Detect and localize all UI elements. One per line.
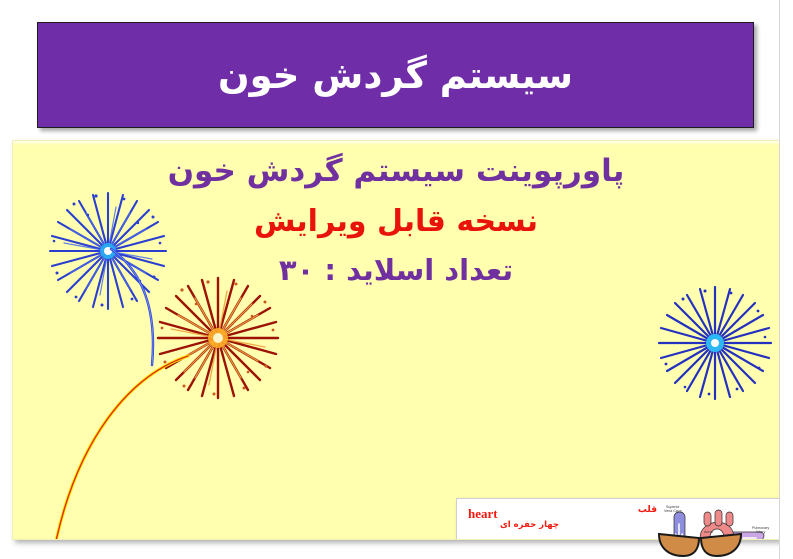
brown-shoes-icon (655, 528, 745, 559)
firework-trail-yellow-icon (38, 351, 198, 540)
label-superior-vena-cava: Superior Vena Cava (664, 505, 682, 514)
right-gutter (779, 0, 793, 559)
title-banner: سیستم گردش خون (37, 22, 754, 128)
firework-burst-red-icon (153, 273, 283, 403)
content-panel: پاورپوینت سیستم گردش خون نسخه قابل ویرای… (12, 140, 780, 540)
headline-line-2: نسخه قابل ویرایش (13, 206, 779, 238)
slide-heading-en: heart (468, 506, 498, 522)
headline-line-1: پاورپوینت سیستم گردش خون (13, 155, 779, 188)
slide-page: سیستم گردش خون (0, 0, 793, 559)
slide-subheading-fa: چهار حفره ای (500, 520, 559, 530)
label-pulmonary-artery: Pulmonary Artery (752, 526, 769, 535)
page-title: سیستم گردش خون (218, 57, 573, 94)
firework-burst-blue-right-icon (653, 281, 778, 406)
headline-block: پاورپوینت سیستم گردش خون نسخه قابل ویرای… (13, 155, 779, 285)
headline-line-3: تعداد اسلاید : ۳۰ (13, 255, 779, 285)
